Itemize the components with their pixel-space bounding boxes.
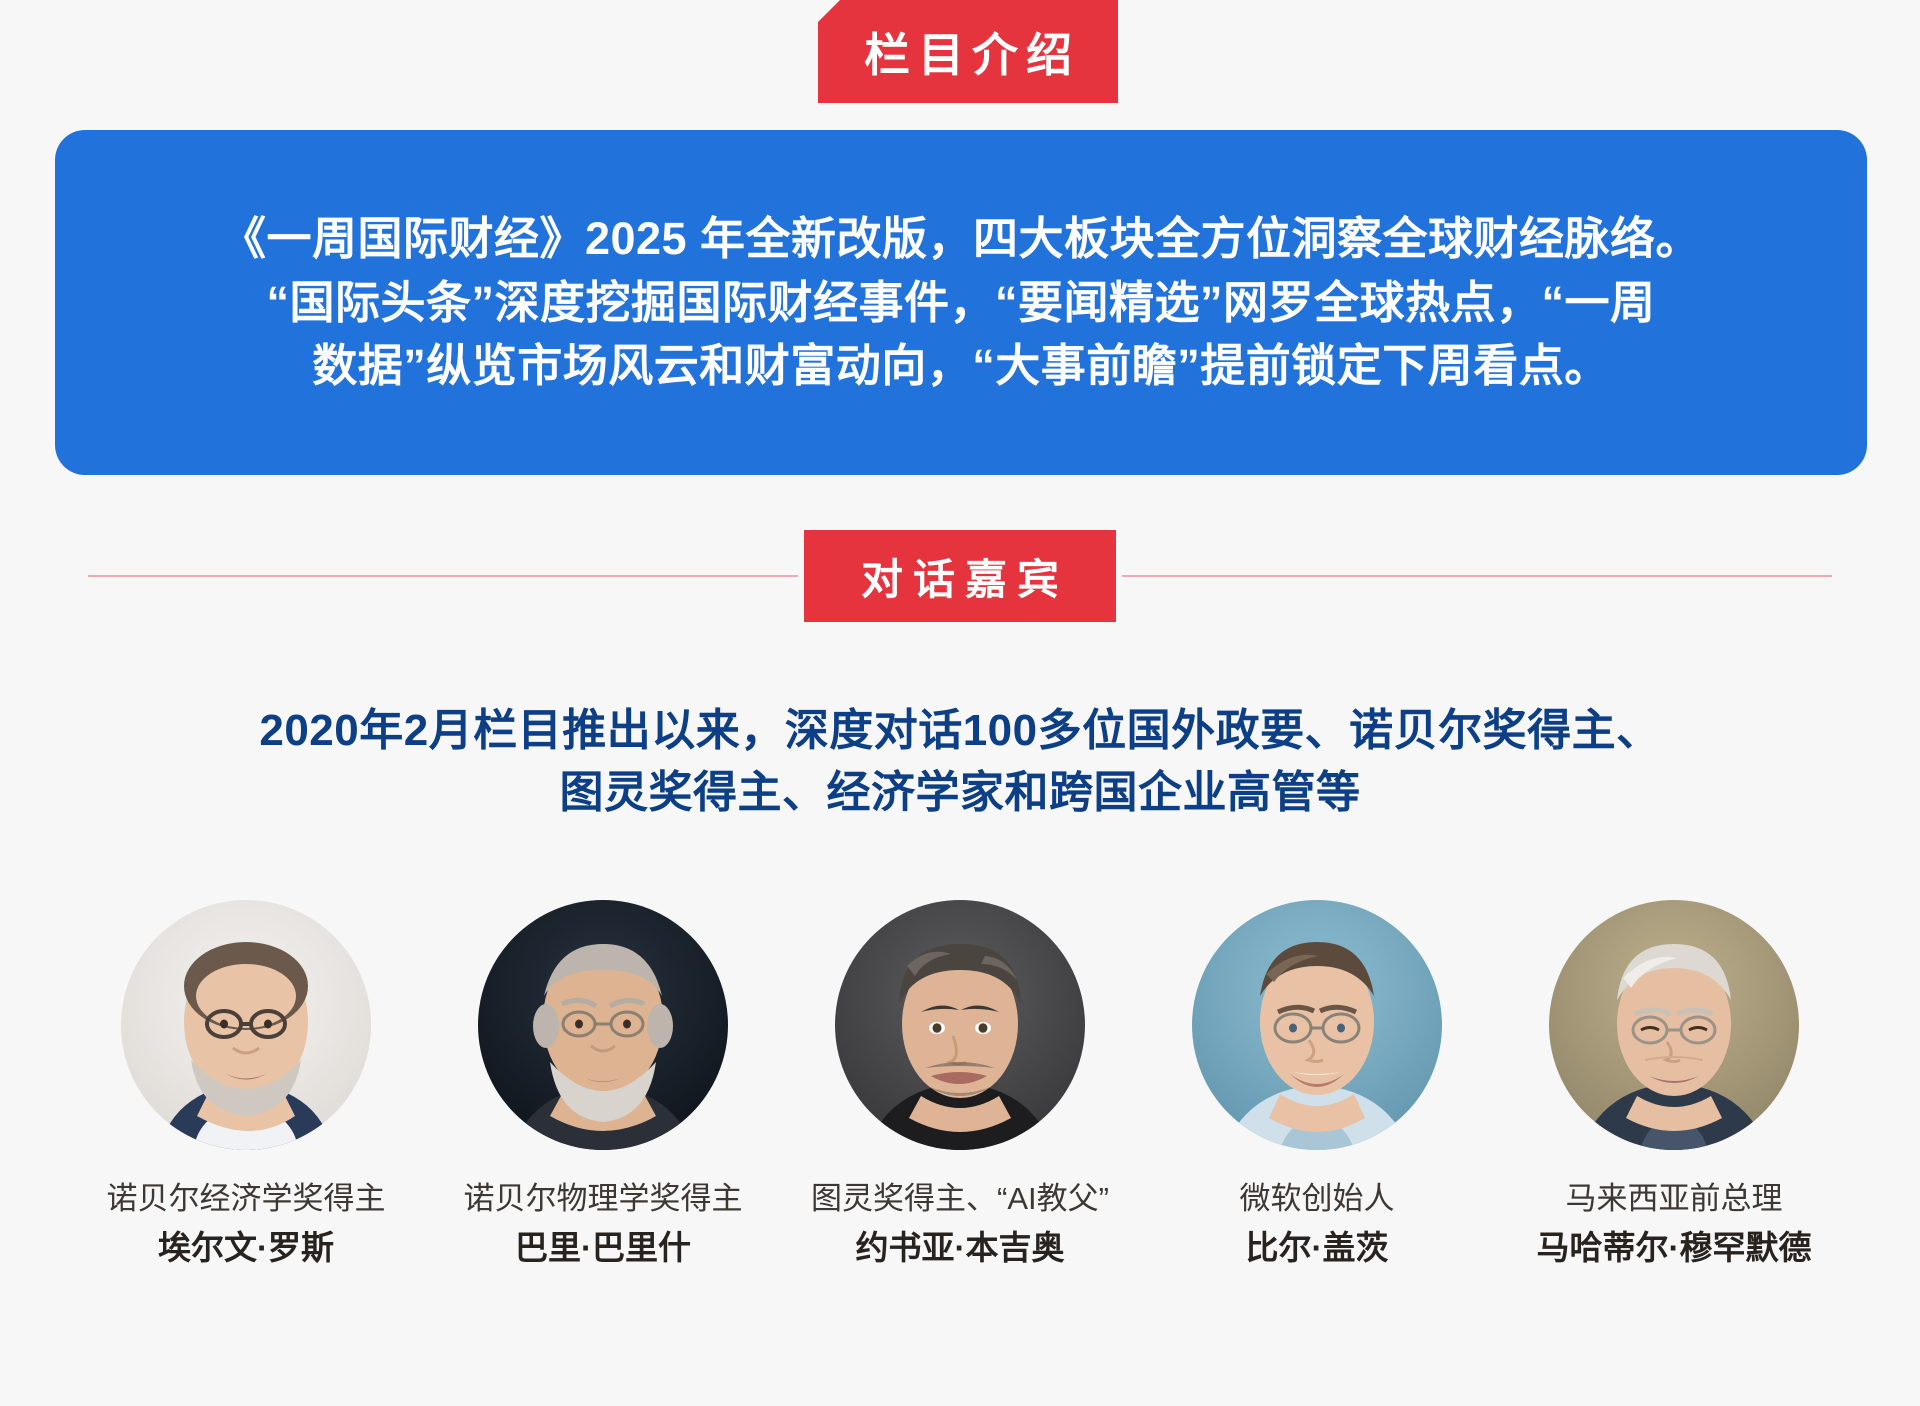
guest-name: 约书亚·本吉奥: [856, 1227, 1065, 1268]
guest-role: 图灵奖得主、“AI教父”: [811, 1180, 1109, 1219]
ribbon-top-label: 栏目介绍: [856, 19, 1080, 85]
ribbon-dialogue-guests: 对话嘉宾: [804, 530, 1116, 622]
subtitle-line-1: 2020年2月栏目推出以来，深度对话100多位国外政要、诺贝尔奖得主、: [0, 700, 1920, 762]
guest-card[interactable]: 图灵奖得主、“AI教父” 约书亚·本吉奥: [808, 900, 1113, 1268]
intro-line-1: 《一周国际财经》2025 年全新改版，四大板块全方位洞察全球财经脉络。: [141, 207, 1781, 271]
rule-right: [1122, 575, 1832, 577]
guest-list: 诺贝尔经济学奖得主 埃尔文·罗斯: [0, 900, 1920, 1268]
intro-card: 《一周国际财经》2025 年全新改版，四大板块全方位洞察全球财经脉络。 “国际头…: [55, 130, 1867, 475]
intro-line-3: 数据”纵览市场风云和财富动向，“大事前瞻”提前锁定下周看点。: [141, 334, 1781, 398]
guest-role: 微软创始人: [1240, 1180, 1395, 1219]
guest-role: 诺贝尔物理学奖得主: [464, 1180, 743, 1219]
guest-role: 诺贝尔经济学奖得主: [107, 1180, 386, 1219]
avatar-bill-gates: [1192, 900, 1442, 1150]
guest-name: 马哈蒂尔·穆罕默德: [1537, 1227, 1812, 1268]
ribbon-mid-label: 对话嘉宾: [851, 546, 1069, 607]
avatar-yoshua-bengio: [835, 900, 1085, 1150]
guest-role: 马来西亚前总理: [1566, 1180, 1783, 1219]
intro-card-text: 《一周国际财经》2025 年全新改版，四大板块全方位洞察全球财经脉络。 “国际头…: [141, 207, 1781, 399]
guest-name: 埃尔文·罗斯: [158, 1227, 334, 1268]
subtitle-line-2: 图灵奖得主、经济学家和跨国企业高管等: [0, 762, 1920, 824]
guest-name: 巴里·巴里什: [515, 1227, 691, 1268]
avatar-barry-barish: [478, 900, 728, 1150]
page-root: 栏目介绍 《一周国际财经》2025 年全新改版，四大板块全方位洞察全球财经脉络。…: [0, 0, 1920, 1406]
ribbon-program-intro: 栏目介绍: [818, 0, 1118, 103]
avatar-mahathir-mohamad: [1549, 900, 1799, 1150]
guest-card[interactable]: 诺贝尔经济学奖得主 埃尔文·罗斯: [94, 900, 399, 1268]
rule-left: [88, 575, 798, 577]
guest-card[interactable]: 诺贝尔物理学奖得主 巴里·巴里什: [451, 900, 756, 1268]
guest-card[interactable]: 微软创始人 比尔·盖茨: [1165, 900, 1470, 1268]
guest-name: 比尔·盖茨: [1246, 1227, 1389, 1268]
avatar-alvin-roth: [121, 900, 371, 1150]
intro-line-2: “国际头条”深度挖掘国际财经事件，“要闻精选”网罗全球热点，“一周: [141, 271, 1781, 335]
section-heading-guests: 对话嘉宾: [0, 530, 1920, 622]
guest-card[interactable]: 马来西亚前总理 马哈蒂尔·穆罕默德: [1522, 900, 1827, 1268]
guests-subtitle: 2020年2月栏目推出以来，深度对话100多位国外政要、诺贝尔奖得主、 图灵奖得…: [0, 700, 1920, 825]
